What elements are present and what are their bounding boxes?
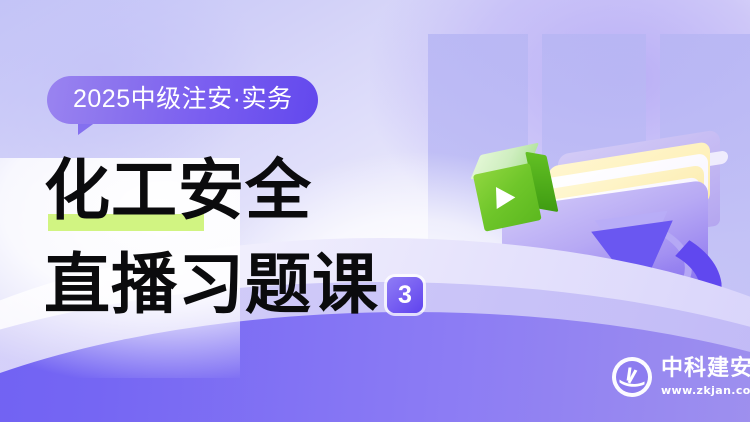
- episode-number-badge: 3: [387, 277, 423, 313]
- brand-logo: 中科建安 www.zkjan.com: [612, 357, 750, 397]
- brand-url: www.zkjan.com: [661, 385, 750, 396]
- headline-line-2-row: 直播习题课 3: [44, 242, 474, 322]
- headline-line-2: 直播习题课: [44, 246, 379, 322]
- brand-logo-text: 中科建安 www.zkjan.com: [661, 358, 750, 396]
- brand-name-cn: 中科建安: [661, 358, 750, 380]
- headline-block: 化工安全 直播习题课 3: [44, 152, 474, 322]
- subject-badge-label: 2025中级注安·实务: [47, 76, 318, 124]
- course-banner: 2025中级注安·实务 化工安全 直播习题课 3 中科建安 www.zkjan.…: [0, 0, 750, 422]
- play-triangle-icon: [496, 186, 516, 209]
- headline-line-1: 化工安全: [44, 152, 312, 228]
- subject-badge: 2025中级注安·实务: [47, 76, 318, 124]
- headline-line-1-row: 化工安全: [44, 152, 474, 228]
- zkjan-circle-logo-icon: [612, 357, 652, 397]
